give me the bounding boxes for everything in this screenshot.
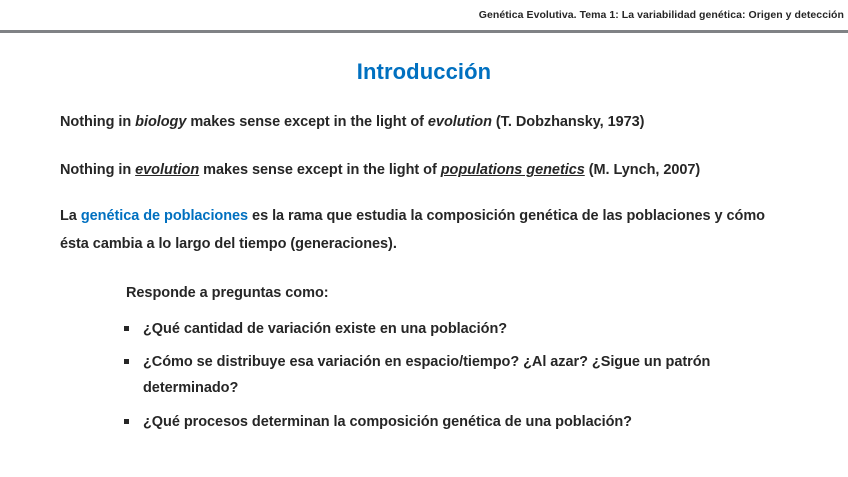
square-bullet-icon: [124, 326, 129, 331]
definition-lead: La: [60, 208, 81, 224]
list-item: ¿Qué cantidad de variación existe en una…: [0, 317, 848, 343]
quote-2-emphasis-populations-genetics: populations genetics: [441, 162, 585, 178]
quote-1-emphasis-biology: biology: [135, 114, 186, 130]
slide: Genética Evolutiva. Tema 1: La variabili…: [0, 0, 848, 477]
slide-header: Genética Evolutiva. Tema 1: La variabili…: [0, 0, 848, 30]
header-divider: [0, 30, 848, 33]
quote-1-middle: makes sense except in the light of: [186, 114, 428, 130]
quote-2-attribution: (M. Lynch, 2007): [585, 162, 700, 178]
quote-lynch: Nothing in evolution makes sense except …: [0, 163, 848, 178]
list-item: ¿Qué procesos determinan la composición …: [0, 410, 848, 436]
quote-2-prefix: Nothing in: [60, 162, 135, 178]
quote-2-middle: makes sense except in the light of: [199, 162, 441, 178]
page-title: Introducción: [0, 59, 848, 85]
list-item-label: ¿Qué procesos determinan la composición …: [143, 414, 632, 430]
list-item-label: ¿Qué cantidad de variación existe en una…: [143, 321, 507, 337]
list-item-label: ¿Cómo se distribuye esa variación en esp…: [143, 354, 710, 396]
quote-1-attribution: (T. Dobzhansky, 1973): [492, 114, 645, 130]
quote-dobzhansky: Nothing in biology makes sense except in…: [0, 115, 848, 130]
quote-1-emphasis-evolution: evolution: [428, 114, 492, 130]
square-bullet-icon: [124, 359, 129, 364]
square-bullet-icon: [124, 419, 129, 424]
questions-list: ¿Qué cantidad de variación existe en una…: [0, 317, 848, 436]
quote-1-prefix: Nothing in: [60, 114, 135, 130]
header-title: Genética Evolutiva. Tema 1: La variabili…: [479, 9, 844, 21]
questions-intro: Responde a preguntas como:: [0, 285, 848, 301]
quote-2-emphasis-evolution: evolution: [135, 162, 199, 178]
definition-paragraph: La genética de poblaciones es la rama qu…: [0, 203, 848, 258]
definition-highlight: genética de poblaciones: [81, 208, 248, 224]
list-item: ¿Cómo se distribuye esa variación en esp…: [0, 350, 848, 402]
slide-body: Nothing in biology makes sense except in…: [0, 110, 848, 444]
